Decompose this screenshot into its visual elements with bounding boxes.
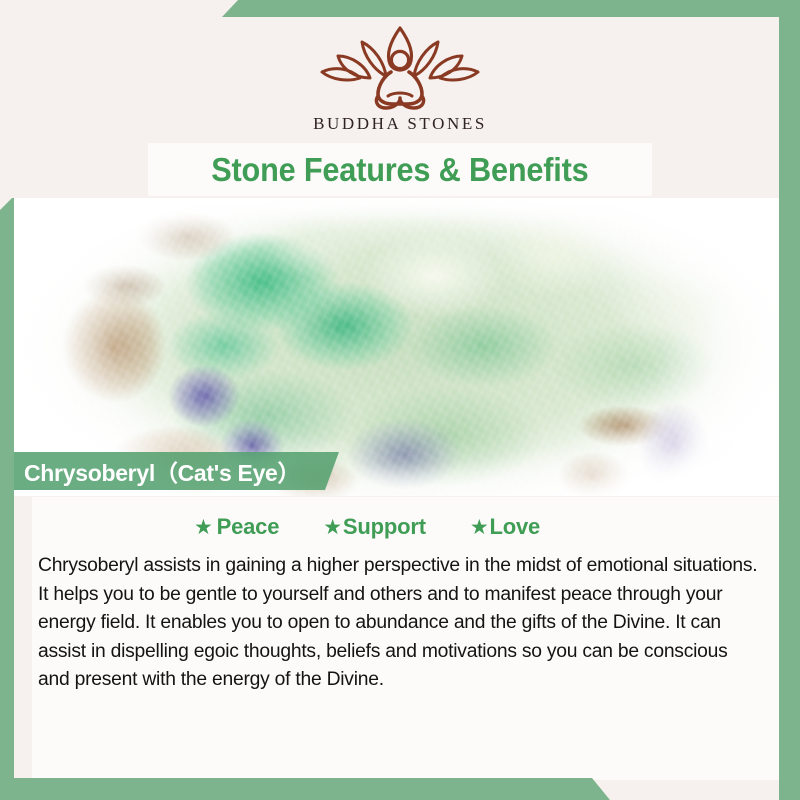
keyword-label: Support	[343, 514, 426, 540]
star-icon: ★	[323, 517, 342, 538]
stone-name-band: Chrysoberyl（Cat's Eye）	[14, 452, 339, 490]
frame-bottom-bar	[0, 778, 800, 800]
stone-name: Chrysoberyl（Cat's Eye）	[24, 454, 300, 488]
frame-right-bar	[779, 0, 800, 800]
keyword-love: ★ Love	[470, 514, 540, 540]
star-icon: ★	[194, 517, 213, 538]
star-icon: ★	[470, 517, 489, 538]
stone-image-top-fade	[14, 196, 779, 222]
keyword-label: Peace	[217, 514, 280, 540]
content-panel: ★ Peace ★ Support ★ Love Chrysoberyl ass…	[32, 497, 779, 780]
frame-left-bar	[0, 198, 14, 800]
stone-image-edge-fade	[14, 196, 779, 496]
brand-logo: BUDDHA STONES	[0, 22, 800, 134]
keyword-support: ★ Support	[323, 514, 426, 540]
stone-photo	[14, 196, 779, 496]
stone-info-card: BUDDHA STONES Stone Features & Benefits …	[0, 0, 800, 800]
title-banner: Stone Features & Benefits	[148, 143, 652, 196]
keyword-list: ★ Peace ★ Support ★ Love	[194, 497, 779, 540]
keyword-peace: ★ Peace	[194, 514, 279, 540]
brand-name: BUDDHA STONES	[313, 114, 487, 134]
keyword-label: Love	[489, 514, 540, 540]
lotus-meditation-figure-icon	[316, 22, 484, 110]
page-title: Stone Features & Benefits	[211, 151, 588, 189]
stone-description: Chrysoberyl assists in gaining a higher …	[38, 551, 758, 694]
